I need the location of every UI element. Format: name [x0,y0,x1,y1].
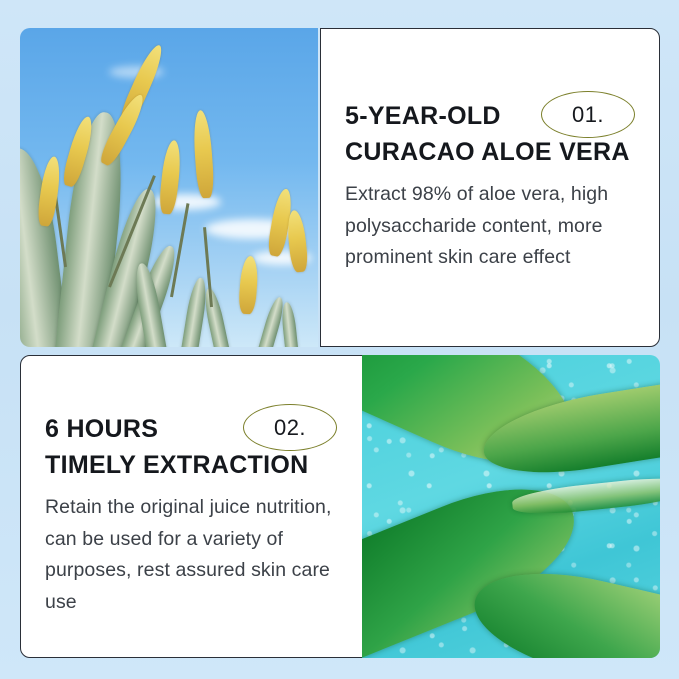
aloe-flower-photo [20,28,318,347]
infographic-page: 01. 5-YEAR-OLD CURACAO ALOE VERA Extract… [0,0,679,679]
feature-card-1: 01. 5-YEAR-OLD CURACAO ALOE VERA Extract… [20,28,660,347]
feature-card-2: 02. 6 HOURS TIMELY EXTRACTION Retain the… [20,355,660,658]
card-1-heading-line-1: 5-YEAR-OLD [345,99,639,135]
feature-card-2-panel: 02. 6 HOURS TIMELY EXTRACTION Retain the… [20,355,364,658]
card-1-heading-line-2: CURACAO ALOE VERA [345,135,639,171]
card-2-heading-line-1: 6 HOURS [45,412,343,448]
card-2-heading-line-2: TIMELY EXTRACTION [45,448,343,484]
aloe-gel-leaf-photo [362,355,660,658]
card-2-body-text: Retain the original juice nutrition, can… [45,492,343,618]
card-1-body-text: Extract 98% of aloe vera, high polysacch… [345,179,639,274]
feature-card-1-panel: 01. 5-YEAR-OLD CURACAO ALOE VERA Extract… [320,28,660,347]
